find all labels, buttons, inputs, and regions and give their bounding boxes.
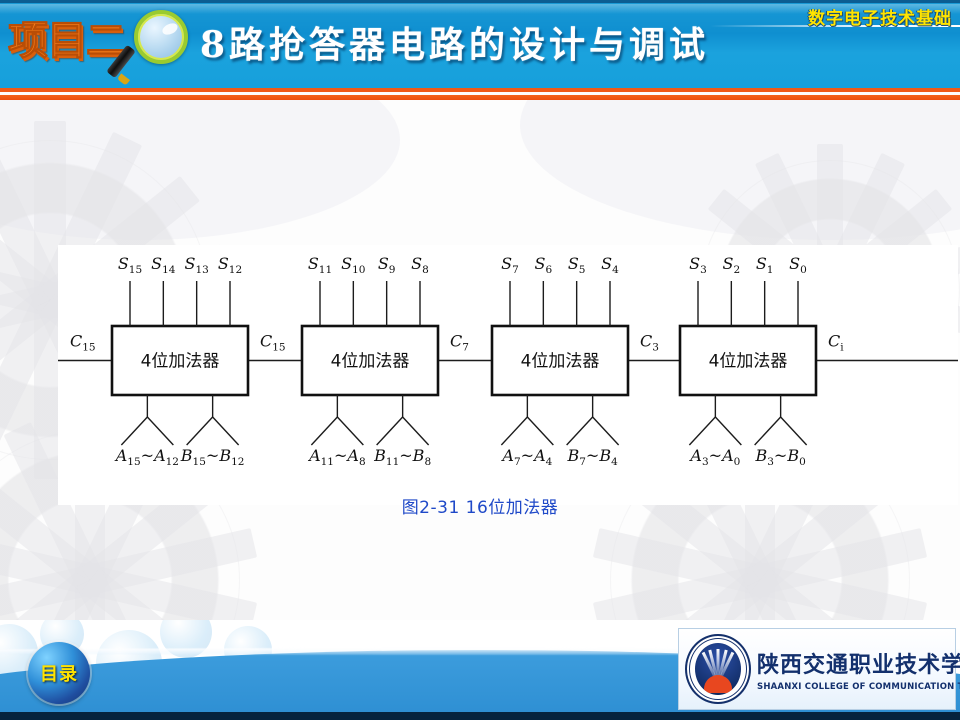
svg-text:S0: S0 [789,254,807,276]
svg-text:S8: S8 [411,254,429,276]
svg-text:B3~B0: B3~B0 [754,446,805,468]
slide-footer: 目录 陕西交通职业技术学院 SHAANXI COLLEGE OF COMMUNI… [0,620,960,720]
school-name-en: SHAANXI COLLEGE OF COMMUNICATION TECHNOL… [757,682,960,692]
svg-text:S14: S14 [151,254,176,276]
svg-text:4位加法器: 4位加法器 [141,352,220,372]
svg-text:S4: S4 [601,254,619,276]
svg-text:4位加法器: 4位加法器 [709,352,788,372]
slide-content: 4位加法器S15S14S13S12C15C15A15~A12B15~B124位加… [0,100,960,620]
slide-header: 数字电子技术基础 项目二 8路抢答器电路的设计与调试 [0,0,960,100]
magnifier-glint [161,21,180,37]
crest-inner [695,643,741,695]
svg-text:S2: S2 [723,254,741,276]
svg-text:S10: S10 [341,254,365,276]
school-logo: 陕西交通职业技术学院 SHAANXI COLLEGE OF COMMUNICAT… [678,628,956,710]
svg-text:4位加法器: 4位加法器 [521,352,600,372]
svg-text:B15~B12: B15~B12 [180,446,245,468]
crest-bar [701,690,735,693]
svg-text:S13: S13 [184,254,208,276]
footer-bottom-edge [0,712,960,720]
svg-text:S1: S1 [756,254,774,276]
project-badge-label: 项目二 [8,8,125,66]
slide-title: 8路抢答器电路的设计与调试 [200,14,900,76]
magnifier-lens [134,10,188,64]
16-bit-adder-diagram: 4位加法器S15S14S13S12C15C15A15~A12B15~B124位加… [58,245,958,505]
svg-text:C15: C15 [260,332,286,354]
svg-text:S3: S3 [689,254,707,276]
svg-text:S5: S5 [568,254,586,276]
svg-text:S9: S9 [378,254,396,276]
school-name-cn: 陕西交通职业技术学院 [757,647,960,679]
svg-text:S6: S6 [535,254,553,276]
svg-text:C15: C15 [70,332,96,354]
svg-text:B11~B8: B11~B8 [373,446,431,468]
adder-diagram-panel: 4位加法器S15S14S13S12C15C15A15~A12B15~B124位加… [58,245,958,505]
svg-text:A11~A8: A11~A8 [307,446,366,468]
svg-text:A3~A0: A3~A0 [688,446,740,468]
header-topline [0,0,960,3]
toc-button[interactable]: 目录 [28,642,90,704]
school-logo-texts: 陕西交通职业技术学院 SHAANXI COLLEGE OF COMMUNICAT… [751,647,960,692]
svg-text:Ci: Ci [828,332,844,354]
svg-text:A7~A4: A7~A4 [500,446,552,468]
svg-text:S15: S15 [118,254,142,276]
svg-text:4位加法器: 4位加法器 [331,352,410,372]
svg-text:C3: C3 [640,332,659,354]
svg-text:S7: S7 [501,254,519,276]
magnifier-icon [120,8,194,82]
svg-text:B7~B4: B7~B4 [566,446,618,468]
svg-text:S12: S12 [218,254,242,276]
school-crest-icon [685,634,751,704]
svg-text:C7: C7 [450,332,469,354]
slide-canvas: 数字电子技术基础 项目二 8路抢答器电路的设计与调试 4位加法器S15S14S1… [0,0,960,720]
svg-text:S11: S11 [308,254,332,276]
crest-arch [704,675,732,690]
figure-caption: 图2-31 16位加法器 [0,493,960,518]
toc-button-label: 目录 [40,660,78,686]
svg-text:A15~A12: A15~A12 [114,446,179,468]
